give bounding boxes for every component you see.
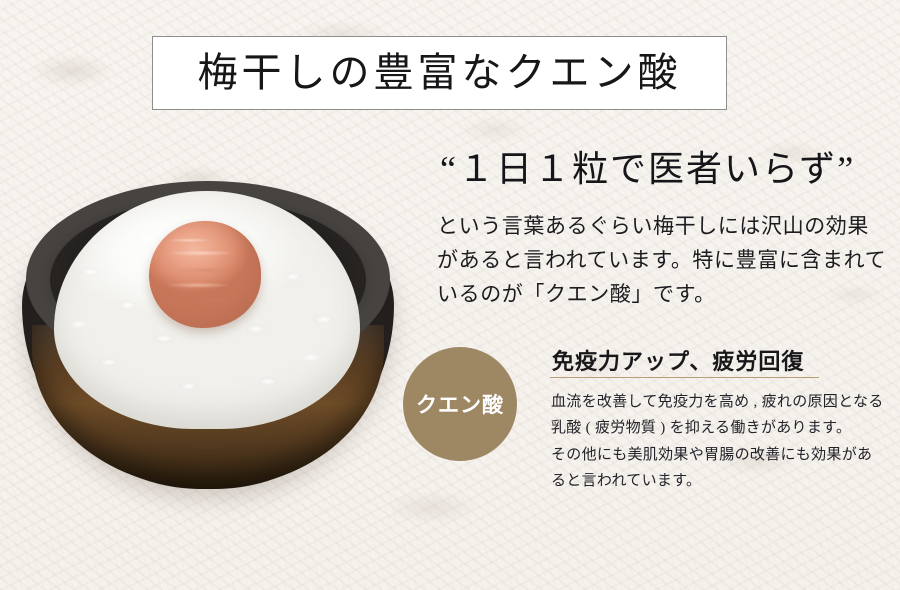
page-title-box: 梅干しの豊富なクエン酸 (152, 36, 727, 110)
umeboshi-rice-photo (0, 165, 420, 505)
effect-description-line: ると言われています。 (551, 468, 891, 494)
effect-description-line: 乳酸 ( 疲労物質 ) を抑える働きがあります。 (551, 415, 891, 441)
effect-heading-underline (550, 377, 819, 378)
umeboshi-plum (149, 221, 261, 328)
citric-acid-badge-label: クエン酸 (416, 389, 504, 419)
intro-paragraph: という言葉あるぐらい梅干しには沢山の効果があると言われています。特に豊富に含まれ… (437, 209, 887, 311)
page-title: 梅干しの豊富なクエン酸 (198, 53, 682, 93)
effect-description-line: 血流を改善して免疫力を高め , 疲れの原因となる (551, 389, 891, 415)
effect-heading: 免疫力アップ、疲労回復 (552, 344, 804, 376)
effect-description: 血流を改善して免疫力を高め , 疲れの原因となる 乳酸 ( 疲労物質 ) を抑え… (551, 389, 891, 494)
promo-banner: 梅干しの豊富なクエン酸 “１日１粒で医者いらず” という言葉あるぐらい梅干しには… (0, 0, 900, 590)
citric-acid-badge: クエン酸 (403, 347, 517, 461)
umeboshi-surface-folds (149, 221, 261, 328)
headline-quote: “１日１粒で医者いらず” (440, 151, 855, 187)
rice-bowl (8, 175, 408, 495)
effect-description-line: その他にも美肌効果や胃腸の改善にも効果があ (551, 442, 891, 468)
